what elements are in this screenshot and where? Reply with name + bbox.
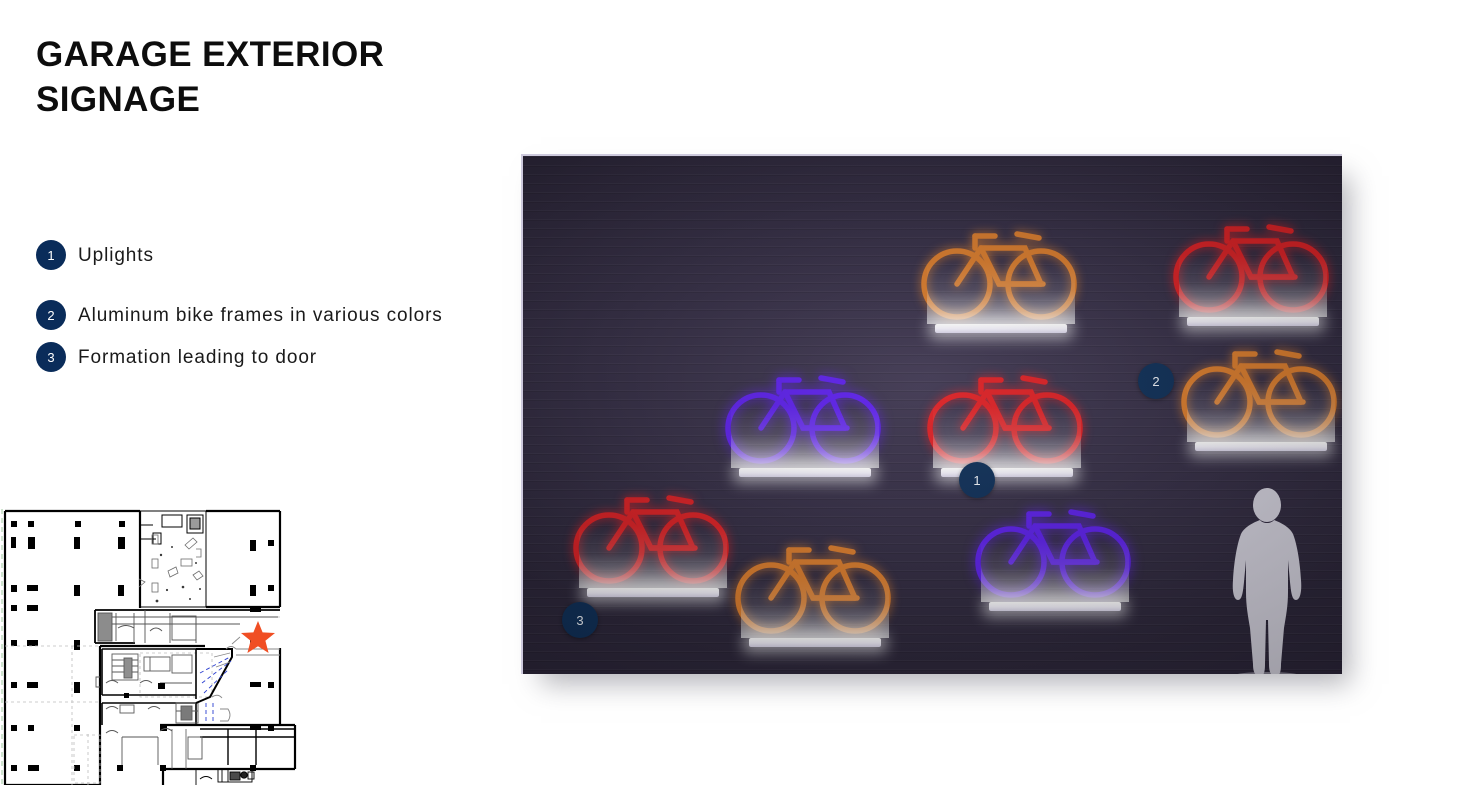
uplight-strip [935,324,1067,333]
uplight-strip [739,468,871,477]
uplight-strip [989,602,1121,611]
legend-label-3: Formation leading to door [78,342,317,369]
legend: 1 Uplights 2 Aluminum bike frames in var… [36,240,476,372]
legend-label-1: Uplights [78,240,154,267]
garage-wall-render: 1 2 3 [521,154,1342,674]
legend-label-2: Aluminum bike frames in various colors [78,300,443,327]
uplight-strip [1187,317,1319,326]
callout-badge-1: 1 [959,462,995,498]
legend-item-2: 2 Aluminum bike frames in various colors [36,300,476,330]
uplight-strip [587,588,719,597]
legend-item-3: 3 Formation leading to door [36,342,476,372]
legend-badge-2: 2 [36,300,66,330]
callout-badge-2: 2 [1138,363,1174,399]
legend-item-1: 1 Uplights [36,240,476,270]
page-title: GARAGE EXTERIOR SIGNAGE [36,33,466,123]
floorplan-diagram [0,497,302,785]
legend-badge-3: 3 [36,342,66,372]
legend-badge-1: 1 [36,240,66,270]
callout-badge-3: 3 [562,602,598,638]
scale-figure-silhouette [1219,488,1315,674]
uplight-strip [749,638,881,647]
uplight-strip [1195,442,1327,451]
